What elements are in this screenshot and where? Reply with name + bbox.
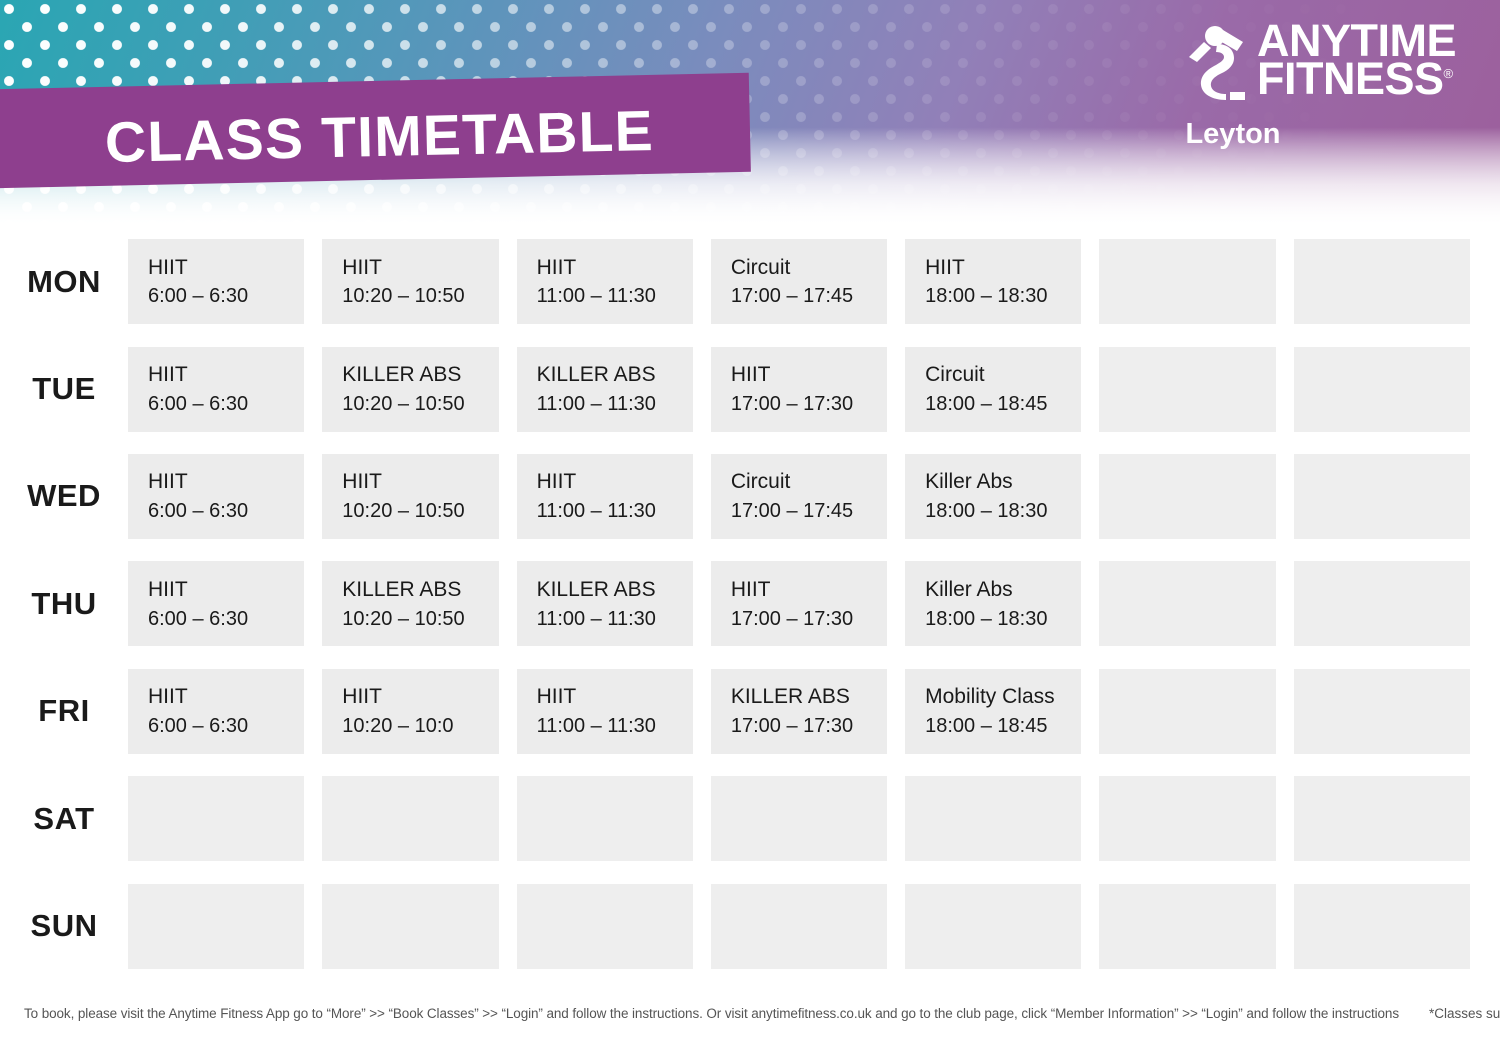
class-slot[interactable]: HIIT17:00 – 17:30 (711, 347, 887, 432)
class-name: HIIT (925, 253, 1061, 283)
class-time: 17:00 – 17:45 (731, 282, 867, 310)
class-name: HIIT (731, 360, 867, 390)
class-slot[interactable]: Killer Abs18:00 – 18:30 (905, 561, 1081, 646)
class-time: 11:00 – 11:30 (537, 605, 673, 633)
class-name: Circuit (925, 360, 1061, 390)
class-slot[interactable]: HIIT17:00 – 17:30 (711, 561, 887, 646)
class-name: HIIT (731, 575, 867, 605)
class-slot-empty (1294, 669, 1470, 754)
class-time: 10:20 – 10:50 (342, 605, 478, 633)
club-name: Leyton (1076, 118, 1456, 151)
class-slot[interactable]: KILLER ABS10:20 – 10:50 (322, 561, 498, 646)
class-time: 10:20 – 10:50 (342, 282, 478, 310)
class-slot[interactable]: Killer Abs18:00 – 18:30 (905, 454, 1081, 539)
class-slot[interactable]: KILLER ABS17:00 – 17:30 (711, 669, 887, 754)
class-name: KILLER ABS (342, 575, 478, 605)
class-timetable-poster: CLASS TIMETABLE ANYTIME FITNESS® (0, 0, 1500, 1039)
class-slot[interactable]: KILLER ABS11:00 – 11:30 (517, 347, 693, 432)
class-time: 17:00 – 17:30 (731, 605, 867, 633)
class-name: HIIT (148, 467, 284, 497)
class-slot[interactable]: HIIT11:00 – 11:30 (517, 669, 693, 754)
timetable-row: SUN (0, 872, 1500, 979)
class-slot-empty (128, 884, 304, 969)
class-time: 18:00 – 18:45 (925, 712, 1061, 740)
class-slot[interactable]: Circuit18:00 – 18:45 (905, 347, 1081, 432)
class-name: HIIT (148, 253, 284, 283)
class-name: Circuit (731, 467, 867, 497)
class-slot[interactable]: HIIT11:00 – 11:30 (517, 239, 693, 324)
class-slot[interactable]: Circuit17:00 – 17:45 (711, 454, 887, 539)
class-name: HIIT (537, 682, 673, 712)
class-slot[interactable]: HIIT6:00 – 6:30 (128, 561, 304, 646)
class-slot-empty (322, 884, 498, 969)
class-name: Circuit (731, 253, 867, 283)
timetable-row: WEDHIIT6:00 – 6:30HIIT10:20 – 10:50HIIT1… (0, 443, 1500, 550)
class-slot-empty (128, 776, 304, 861)
class-time: 11:00 – 11:30 (537, 497, 673, 525)
class-name: Mobility Class (925, 682, 1061, 712)
class-time: 18:00 – 18:30 (925, 497, 1061, 525)
class-slot-empty (322, 776, 498, 861)
class-time: 6:00 – 6:30 (148, 605, 284, 633)
class-slot[interactable]: HIIT6:00 – 6:30 (128, 239, 304, 324)
page-title: CLASS TIMETABLE (104, 85, 746, 187)
class-slot-empty (1294, 561, 1470, 646)
class-time: 17:00 – 17:45 (731, 497, 867, 525)
class-time: 6:00 – 6:30 (148, 497, 284, 525)
class-name: KILLER ABS (731, 682, 867, 712)
class-time: 6:00 – 6:30 (148, 282, 284, 310)
class-name: HIIT (342, 682, 478, 712)
class-slot[interactable]: HIIT6:00 – 6:30 (128, 454, 304, 539)
class-slot-empty (1099, 454, 1275, 539)
day-label-tue: TUE (0, 371, 128, 407)
class-slot[interactable]: KILLER ABS11:00 – 11:30 (517, 561, 693, 646)
timetable-grid: MONHIIT6:00 – 6:30HIIT10:20 – 10:50HIIT1… (0, 228, 1500, 980)
class-name: KILLER ABS (537, 575, 673, 605)
footer: To book, please visit the Anytime Fitnes… (0, 1006, 1500, 1021)
brand-wordmark-text-2: FITNESS (1257, 53, 1444, 104)
class-name: KILLER ABS (537, 360, 673, 390)
class-time: 11:00 – 11:30 (537, 712, 673, 740)
class-name: Killer Abs (925, 467, 1061, 497)
timetable-row-slots: HIIT6:00 – 6:30HIIT10:20 – 10:50HIIT11:0… (128, 239, 1500, 324)
timetable-row-slots (128, 776, 1500, 861)
class-time: 6:00 – 6:30 (148, 712, 284, 740)
class-slot-empty (1099, 561, 1275, 646)
class-slot-empty (711, 776, 887, 861)
class-name: HIIT (537, 467, 673, 497)
brand-wordmark: ANYTIME FITNESS® (1257, 22, 1456, 98)
class-slot[interactable]: HIIT6:00 – 6:30 (128, 669, 304, 754)
class-time: 10:20 – 10:0 (342, 712, 478, 740)
timetable-row-slots (128, 884, 1500, 969)
timetable-row-slots: HIIT6:00 – 6:30KILLER ABS10:20 – 10:50KI… (128, 347, 1500, 432)
class-slot[interactable]: Mobility Class18:00 – 18:45 (905, 669, 1081, 754)
day-label-sun: SUN (0, 908, 128, 944)
class-slot[interactable]: KILLER ABS10:20 – 10:50 (322, 347, 498, 432)
day-label-wed: WED (0, 478, 128, 514)
class-slot[interactable]: HIIT10:20 – 10:50 (322, 239, 498, 324)
class-time: 17:00 – 17:30 (731, 390, 867, 418)
day-label-mon: MON (0, 264, 128, 300)
class-slot[interactable]: HIIT6:00 – 6:30 (128, 347, 304, 432)
class-slot-empty (1294, 884, 1470, 969)
class-slot[interactable]: HIIT10:20 – 10:0 (322, 669, 498, 754)
timetable-row: FRIHIIT6:00 – 6:30HIIT10:20 – 10:0HIIT11… (0, 658, 1500, 765)
class-name: HIIT (148, 360, 284, 390)
class-time: 11:00 – 11:30 (537, 390, 673, 418)
class-name: Killer Abs (925, 575, 1061, 605)
timetable-row-slots: HIIT6:00 – 6:30KILLER ABS10:20 – 10:50KI… (128, 561, 1500, 646)
class-slot-empty (1294, 239, 1470, 324)
registered-trademark-icon: ® (1444, 66, 1453, 81)
brand-wordmark-line-2: FITNESS® (1257, 60, 1453, 98)
day-label-sat: SAT (0, 801, 128, 837)
class-time: 11:00 – 11:30 (537, 282, 673, 310)
timetable-row-slots: HIIT6:00 – 6:30HIIT10:20 – 10:50HIIT11:0… (128, 454, 1500, 539)
booking-instructions: To book, please visit the Anytime Fitnes… (24, 1006, 1399, 1021)
logo-row: ANYTIME FITNESS® (1076, 22, 1456, 105)
class-slot-empty (1294, 776, 1470, 861)
timetable-row: SAT (0, 765, 1500, 872)
class-time: 6:00 – 6:30 (148, 390, 284, 418)
class-slot-empty (517, 776, 693, 861)
class-name: HIIT (148, 682, 284, 712)
timetable-row: THUHIIT6:00 – 6:30KILLER ABS10:20 – 10:5… (0, 550, 1500, 657)
class-name: HIIT (537, 253, 673, 283)
class-slot-empty (1099, 776, 1275, 861)
class-time: 18:00 – 18:45 (925, 390, 1061, 418)
class-time: 17:00 – 17:30 (731, 712, 867, 740)
running-man-icon (1187, 24, 1249, 105)
class-slot[interactable]: HIIT11:00 – 11:30 (517, 454, 693, 539)
class-slot[interactable]: HIIT18:00 – 18:30 (905, 239, 1081, 324)
class-time: 10:20 – 10:50 (342, 390, 478, 418)
class-slot-empty (1099, 347, 1275, 432)
class-slot-empty (1294, 454, 1470, 539)
class-name: HIIT (148, 575, 284, 605)
class-slot-empty (1294, 347, 1470, 432)
class-name: KILLER ABS (342, 360, 478, 390)
day-label-thu: THU (0, 586, 128, 622)
timetable-row: MONHIIT6:00 – 6:30HIIT10:20 – 10:50HIIT1… (0, 228, 1500, 335)
class-slot-empty (905, 884, 1081, 969)
class-time: 10:20 – 10:50 (342, 497, 478, 525)
class-slot-empty (905, 776, 1081, 861)
class-slot[interactable]: Circuit17:00 – 17:45 (711, 239, 887, 324)
class-time: 18:00 – 18:30 (925, 282, 1061, 310)
class-slot-empty (711, 884, 887, 969)
timetable-row: TUEHIIT6:00 – 6:30KILLER ABS10:20 – 10:5… (0, 335, 1500, 442)
brand-logo-block: ANYTIME FITNESS® Leyton (1076, 22, 1456, 151)
classes-disclaimer: *Classes subject to change (1399, 1006, 1500, 1021)
class-time: 18:00 – 18:30 (925, 605, 1061, 633)
class-slot[interactable]: HIIT10:20 – 10:50 (322, 454, 498, 539)
class-slot-empty (1099, 239, 1275, 324)
class-name: HIIT (342, 467, 478, 497)
class-slot-empty (1099, 884, 1275, 969)
class-name: HIIT (342, 253, 478, 283)
class-slot-empty (517, 884, 693, 969)
class-slot-empty (1099, 669, 1275, 754)
day-label-fri: FRI (0, 693, 128, 729)
timetable-row-slots: HIIT6:00 – 6:30HIIT10:20 – 10:0HIIT11:00… (128, 669, 1500, 754)
